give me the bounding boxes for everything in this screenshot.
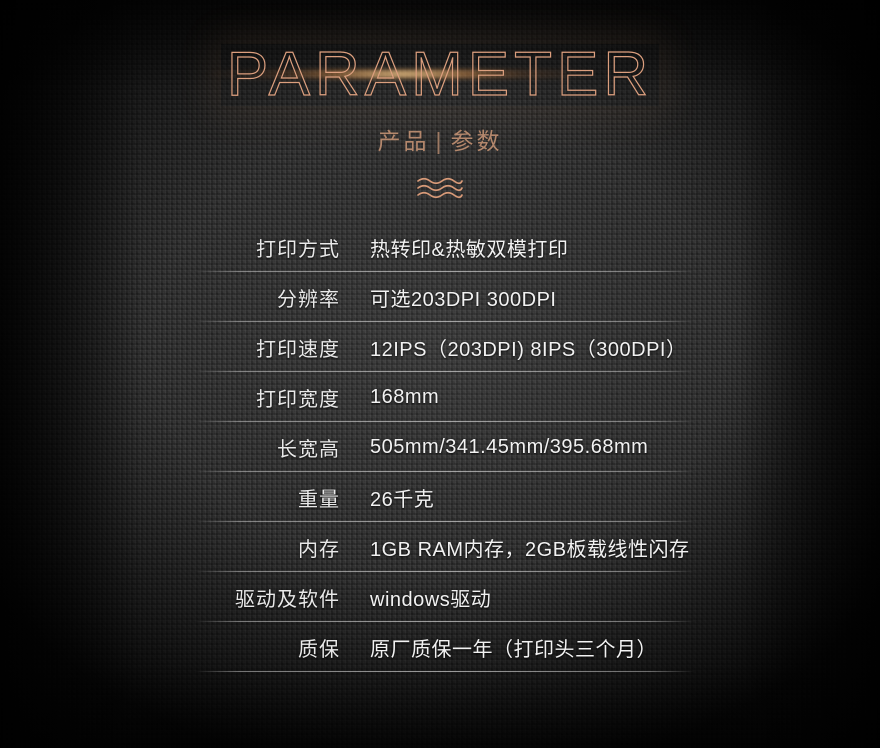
spec-value: 26千克 bbox=[370, 483, 434, 512]
spec-label: 分辨率 bbox=[0, 283, 340, 312]
subtitle-left-text: 产品 bbox=[378, 128, 430, 154]
spec-label: 打印宽度 bbox=[0, 383, 340, 412]
spec-label: 打印方式 bbox=[0, 233, 340, 262]
table-row: 质保 原厂质保一年（打印头三个月） bbox=[0, 622, 880, 672]
spec-label: 重量 bbox=[0, 483, 340, 512]
spec-label: 打印速度 bbox=[0, 333, 340, 362]
table-row: 打印方式 热转印&热敏双模打印 bbox=[0, 222, 880, 272]
spec-label: 内存 bbox=[0, 533, 340, 562]
table-row: 驱动及软件 windows驱动 bbox=[0, 572, 880, 622]
spec-value: 12IPS（203DPI) 8IPS（300DPI） bbox=[370, 333, 686, 362]
spec-label: 质保 bbox=[0, 633, 340, 662]
table-row: 内存 1GB RAM内存，2GB板载线性闪存 bbox=[0, 522, 880, 572]
spec-table: 打印方式 热转印&热敏双模打印 分辨率 可选203DPI 300DPI 打印速度… bbox=[0, 222, 880, 672]
spec-value: 505mm/341.45mm/395.68mm bbox=[370, 436, 648, 459]
spec-label: 驱动及软件 bbox=[0, 583, 340, 612]
spec-value: 可选203DPI 300DPI bbox=[370, 283, 556, 312]
spec-value: 热转印&热敏双模打印 bbox=[370, 233, 568, 262]
spec-value: windows驱动 bbox=[370, 583, 491, 612]
spec-value: 1GB RAM内存，2GB板载线性闪存 bbox=[370, 533, 690, 562]
page-header: PARAMETER 产品|参数 bbox=[0, 44, 880, 202]
table-row: 长宽高 505mm/341.45mm/395.68mm bbox=[0, 422, 880, 472]
title-wrap: PARAMETER bbox=[221, 44, 659, 106]
subtitle-right-text: 参数 bbox=[450, 128, 502, 154]
page-title: PARAMETER bbox=[221, 44, 659, 106]
table-row: 分辨率 可选203DPI 300DPI bbox=[0, 272, 880, 322]
parameter-spec-page: PARAMETER 产品|参数 打印方式 热转印&热敏双模打印 bbox=[0, 0, 880, 751]
table-row: 重量 26千克 bbox=[0, 472, 880, 522]
spec-label: 长宽高 bbox=[0, 433, 340, 462]
table-row: 打印速度 12IPS（203DPI) 8IPS（300DPI） bbox=[0, 322, 880, 372]
page-subtitle: 产品|参数 bbox=[0, 122, 880, 156]
subtitle-divider: | bbox=[430, 128, 451, 154]
spec-value: 原厂质保一年（打印头三个月） bbox=[370, 633, 657, 662]
table-row: 打印宽度 168mm bbox=[0, 372, 880, 422]
spec-value: 168mm bbox=[370, 386, 439, 409]
wave-divider-icon bbox=[413, 176, 467, 202]
